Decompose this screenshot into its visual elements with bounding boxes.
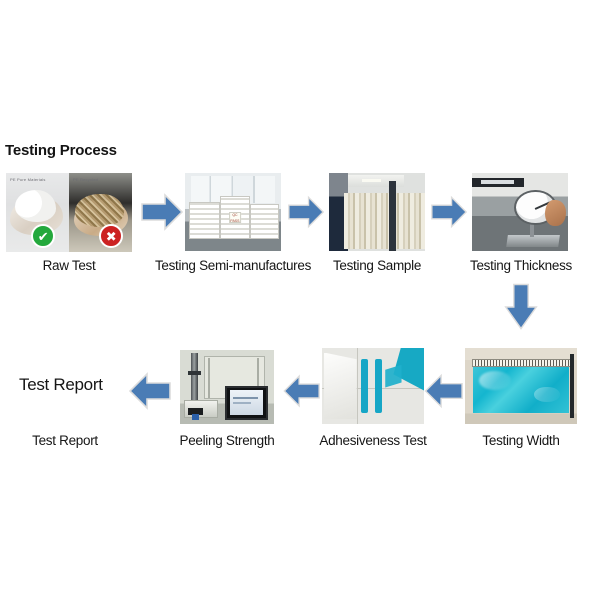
caption-testing-sample: Testing Sample — [329, 258, 425, 273]
qc-label-tag: QC PASS — [229, 212, 241, 223]
photo-peeling-strength[interactable] — [180, 350, 274, 424]
teal-film-sheet — [473, 365, 569, 414]
arrow-thickness-to-width — [503, 283, 539, 331]
sample-room-scene — [329, 173, 425, 251]
recycled-material-tag: PE Recycled — [73, 177, 98, 182]
caption-testing-width: Testing Width — [469, 433, 573, 448]
teal-strip-1 — [361, 359, 368, 414]
caption-test-report: Test Report — [8, 433, 122, 448]
roll-stack-right — [250, 204, 279, 239]
fail-cross-icon: ✖ — [99, 224, 123, 248]
photo-testing-semi-manufactures[interactable]: QC PASS — [185, 173, 281, 251]
arrow-semi-to-sample — [288, 192, 324, 232]
photo-testing-sample[interactable] — [329, 173, 425, 251]
roll-stack-left — [189, 202, 220, 238]
blue-fixture — [192, 414, 199, 419]
arrow-raw-to-semi — [141, 192, 183, 232]
teal-strip-2 — [375, 359, 382, 414]
thickness-bench-scene — [472, 173, 568, 251]
photo-testing-thickness[interactable] — [472, 173, 568, 251]
caption-peeling-strength: Peeling Strength — [168, 433, 286, 448]
operator-hand — [545, 200, 566, 227]
page-title: Testing Process — [5, 142, 117, 159]
summary-test-report-label: Test Report — [19, 375, 103, 395]
teal-peel-flap — [385, 365, 401, 388]
pure-material-half: PE Pure Materials ✔ — [6, 173, 69, 252]
pass-check-icon: ✔ — [31, 224, 55, 248]
caption-adhesiveness-test: Adhesiveness Test — [310, 433, 436, 448]
arrow-adhesiveness-to-peeling — [280, 371, 320, 411]
caption-testing-thickness: Testing Thickness — [463, 258, 579, 273]
tile-wall-scene — [322, 348, 424, 424]
arrow-sample-to-thickness — [431, 192, 467, 232]
pure-material-tag: PE Pure Materials — [10, 177, 46, 182]
gauge-base — [506, 235, 560, 247]
arrow-width-to-adhesiveness — [421, 371, 463, 411]
diagram-canvas: Testing Process PE Pure Materials ✔ PE R… — [0, 0, 600, 600]
tester-column — [191, 353, 198, 405]
recycled-material-half: PE Recycled ✖ — [69, 173, 132, 252]
pure-pellets — [15, 190, 57, 222]
caption-testing-semi-manufactures: Testing Semi-manufactures — [128, 258, 338, 273]
ceiling-lamp — [362, 179, 381, 181]
standing-film-rolls — [344, 193, 425, 249]
peel-test-lab-scene — [180, 350, 274, 424]
computer-monitor — [225, 386, 268, 420]
monitor-screen — [230, 390, 263, 415]
photo-testing-width[interactable] — [465, 348, 577, 424]
table-dark-edge — [570, 354, 573, 418]
warehouse-scene: QC PASS — [185, 173, 281, 251]
white-release-sheet — [324, 353, 357, 420]
recycled-pellets — [75, 194, 124, 227]
photo-raw-test[interactable]: PE Pure Materials ✔ PE Recycled ✖ — [6, 173, 132, 252]
caption-raw-test: Raw Test — [6, 258, 132, 273]
roll-stack-center: QC PASS — [220, 196, 251, 239]
arrow-peeling-to-report — [125, 371, 171, 411]
tester-crosshead — [188, 371, 200, 375]
background-shelf — [472, 178, 524, 187]
measuring-ruler-icon — [472, 359, 573, 367]
measuring-table-scene — [465, 348, 577, 424]
dark-pillar-right — [389, 181, 397, 251]
photo-adhesiveness-test[interactable] — [322, 348, 424, 424]
